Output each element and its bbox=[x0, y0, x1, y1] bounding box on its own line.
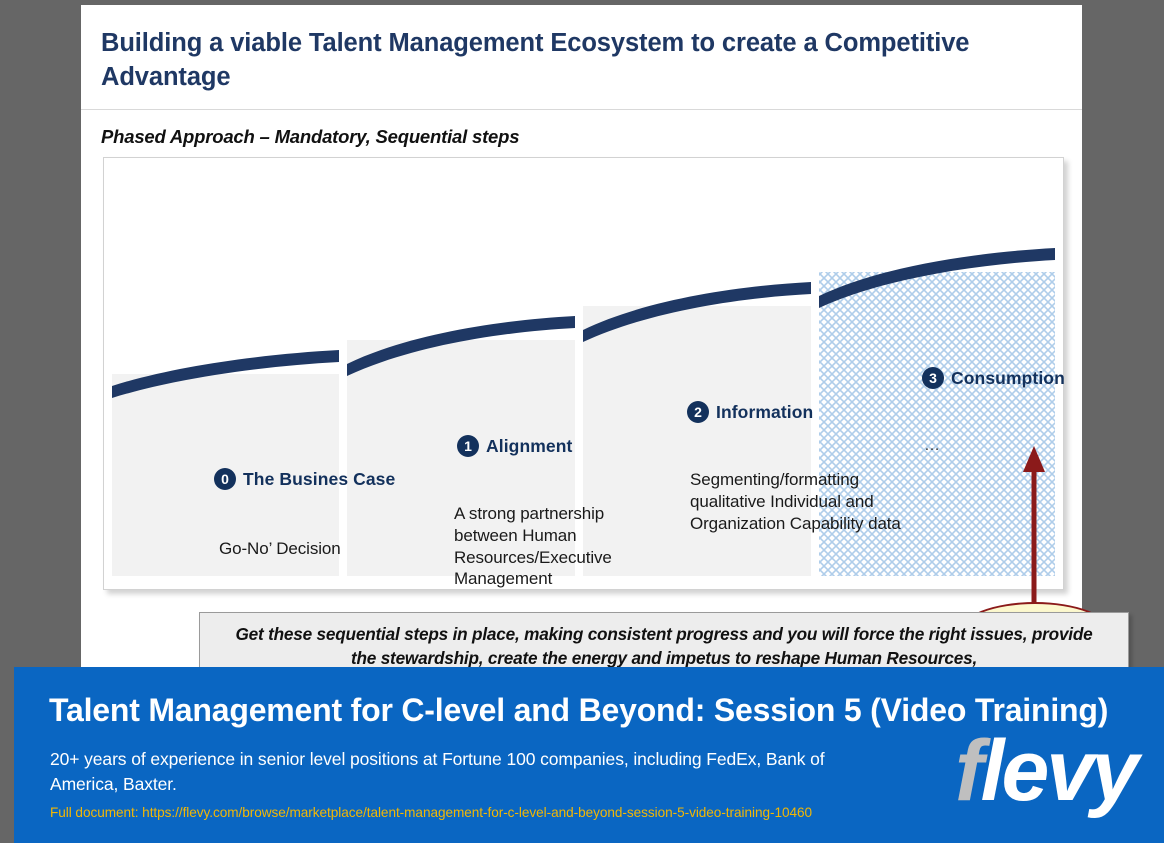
step-marker-0[interactable]: 0 The Busines Case bbox=[214, 468, 395, 490]
step-label-3: Consumption bbox=[951, 368, 1065, 389]
slide-canvas: Building a viable Talent Management Ecos… bbox=[81, 5, 1082, 705]
banner-title: Talent Management for C-level and Beyond… bbox=[49, 692, 1108, 729]
banner-subtitle: 20+ years of experience in senior level … bbox=[50, 747, 840, 798]
step-badge-2: 2 bbox=[687, 401, 709, 423]
step-marker-2[interactable]: 2 Information bbox=[687, 401, 813, 423]
step-label-0: The Busines Case bbox=[243, 469, 395, 490]
step-marker-3[interactable]: 3 Consumption bbox=[922, 367, 1065, 389]
page-backdrop: Building a viable Talent Management Ecos… bbox=[0, 0, 1164, 843]
step-body-0: Go-No’ Decision bbox=[219, 538, 424, 560]
upward-arrow-icon bbox=[1019, 444, 1049, 612]
step-label-2: Information bbox=[716, 402, 813, 423]
step-marker-1[interactable]: 1 Alignment bbox=[457, 435, 572, 457]
summary-callout-text: Get these sequential steps in place, mak… bbox=[222, 623, 1106, 670]
step-badge-3: 3 bbox=[922, 367, 944, 389]
step-badge-0: 0 bbox=[214, 468, 236, 490]
step-badge-1: 1 bbox=[457, 435, 479, 457]
banner-document-url[interactable]: Full document: https://flevy.com/browse/… bbox=[50, 805, 812, 820]
phased-approach-diagram: 0 The Busines Case 1 Alignment 2 Informa… bbox=[103, 157, 1064, 590]
slide-subtitle: Phased Approach – Mandatory, Sequential … bbox=[101, 126, 519, 148]
page-title: Building a viable Talent Management Ecos… bbox=[101, 27, 1056, 94]
step-label-1: Alignment bbox=[486, 436, 572, 457]
flevy-logo[interactable]: flevy bbox=[955, 723, 1164, 819]
title-divider bbox=[81, 109, 1082, 110]
flevy-logo-f: f bbox=[955, 723, 981, 819]
step-body-1: A strong partnership between Human Resou… bbox=[454, 503, 654, 590]
flevy-logo-levy: levy bbox=[981, 723, 1136, 819]
step-body-2: Segmenting/formatting qualitative Indivi… bbox=[690, 469, 905, 534]
diagram-inner: 0 The Busines Case 1 Alignment 2 Informa… bbox=[104, 158, 1063, 589]
